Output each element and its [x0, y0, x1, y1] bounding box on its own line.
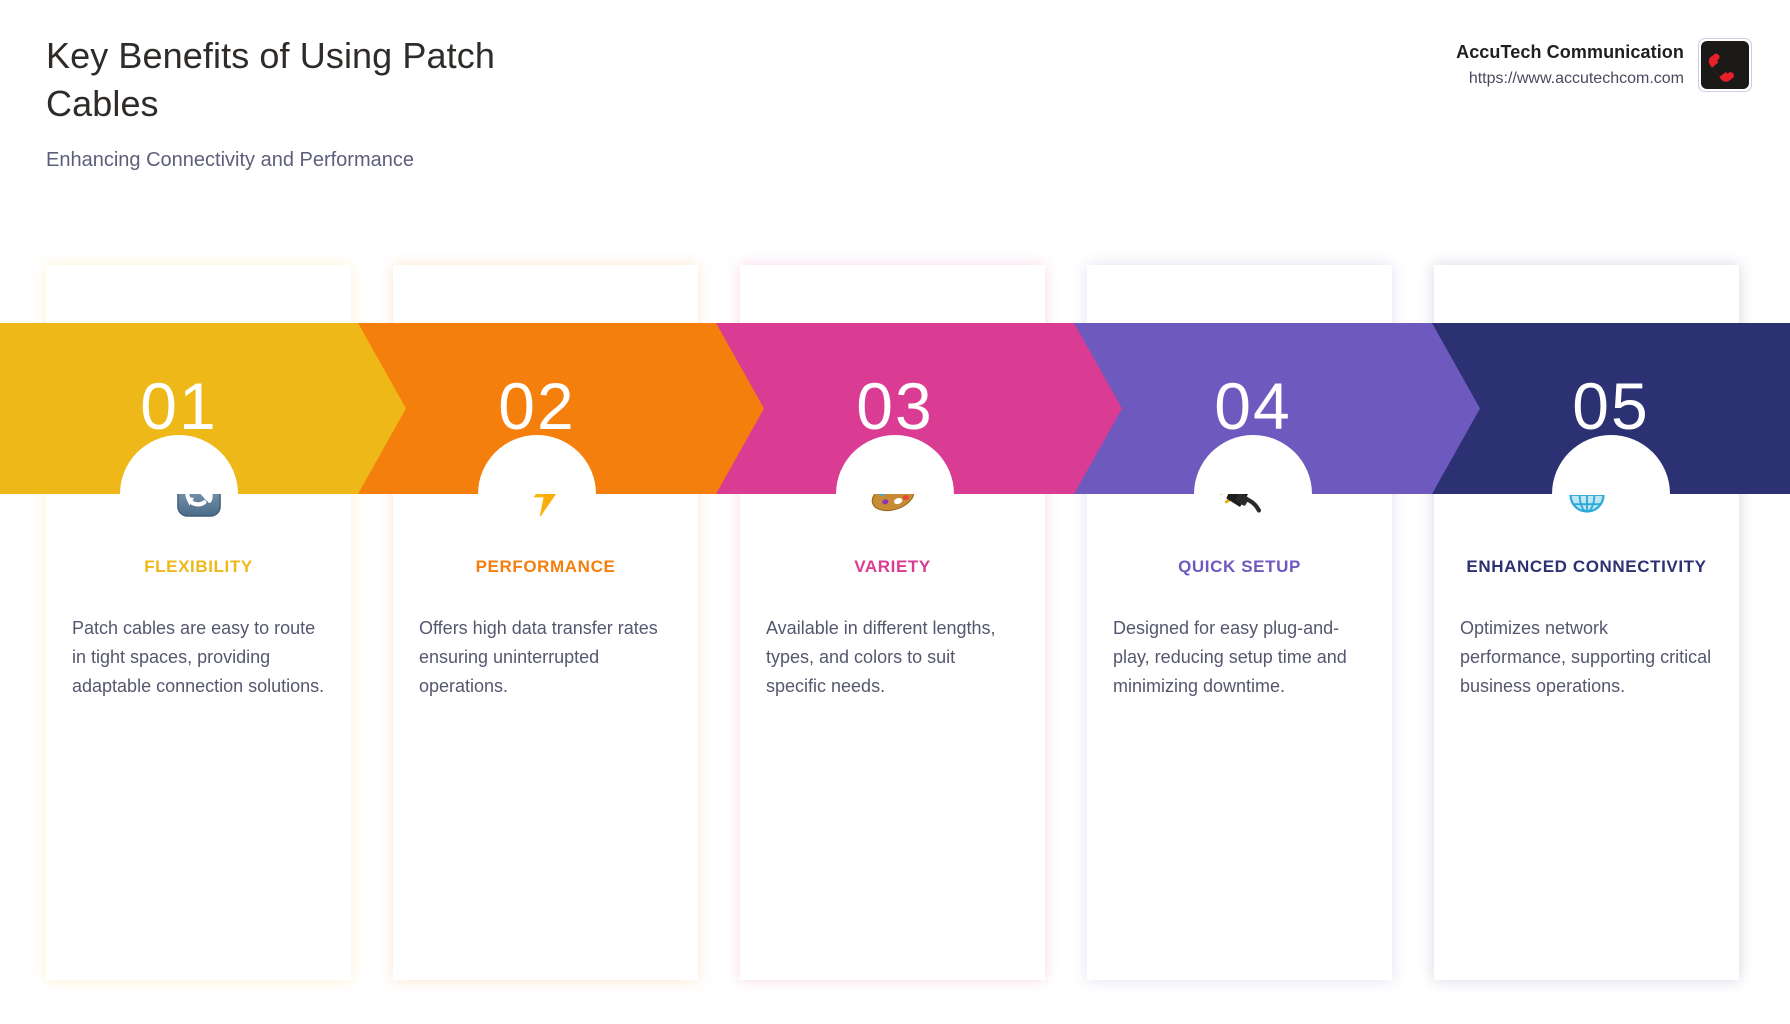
step-card[interactable]: QUICK SETUPDesigned for easy plug-and-pl… — [1087, 265, 1392, 980]
step-title: PERFORMANCE — [417, 555, 674, 580]
page-header: Key Benefits of Using Patch Cables Enhan… — [0, 0, 1790, 200]
step-card-body: PERFORMANCEOffers high data transfer rat… — [393, 555, 698, 701]
step-description: Available in different lengths, types, a… — [764, 614, 1021, 701]
page-subtitle: Enhancing Connectivity and Performance — [46, 147, 606, 173]
step-card[interactable]: VARIETYAvailable in different lengths, t… — [740, 265, 1045, 980]
step-title: FLEXIBILITY — [70, 555, 327, 580]
page-title: Key Benefits of Using Patch Cables — [46, 32, 606, 127]
brand-block: AccuTech Communication https://www.accut… — [1456, 38, 1752, 92]
step-title: QUICK SETUP — [1111, 555, 1368, 580]
lightning-bolt-icon — [393, 465, 698, 525]
step-card[interactable]: PERFORMANCEOffers high data transfer rat… — [393, 265, 698, 980]
step-card-body: QUICK SETUPDesigned for easy plug-and-pl… — [1087, 555, 1392, 701]
brand-logo — [1698, 38, 1752, 92]
step-description: Patch cables are easy to route in tight … — [70, 614, 327, 701]
globe-meridians-icon — [1434, 465, 1739, 525]
step-description: Offers high data transfer rates ensuring… — [417, 614, 674, 701]
step-title: VARIETY — [764, 555, 1021, 580]
brand-url[interactable]: https://www.accutechcom.com — [1456, 69, 1684, 90]
brand-text: AccuTech Communication https://www.accut… — [1456, 38, 1684, 90]
artist-palette-icon — [740, 465, 1045, 525]
step-card[interactable]: ENHANCED CONNECTIVITYOptimizes network p… — [1434, 265, 1739, 980]
steps-cards-container: FLEXIBILITYPatch cables are easy to rout… — [0, 265, 1790, 1005]
step-title: ENHANCED CONNECTIVITY — [1458, 555, 1715, 580]
phone-handset-icon — [1701, 41, 1749, 89]
brand-name: AccuTech Communication — [1456, 41, 1684, 64]
step-description: Designed for easy plug-and-play, reducin… — [1111, 614, 1368, 701]
step-card[interactable]: FLEXIBILITYPatch cables are easy to rout… — [46, 265, 351, 980]
step-card-body: FLEXIBILITYPatch cables are easy to rout… — [46, 555, 351, 701]
electric-plug-icon — [1087, 465, 1392, 525]
step-card-body: VARIETYAvailable in different lengths, t… — [740, 555, 1045, 701]
refresh-arrows-icon — [46, 465, 351, 525]
step-card-body: ENHANCED CONNECTIVITYOptimizes network p… — [1434, 555, 1739, 701]
title-block: Key Benefits of Using Patch Cables Enhan… — [46, 32, 606, 173]
step-description: Optimizes network performance, supportin… — [1458, 614, 1715, 701]
